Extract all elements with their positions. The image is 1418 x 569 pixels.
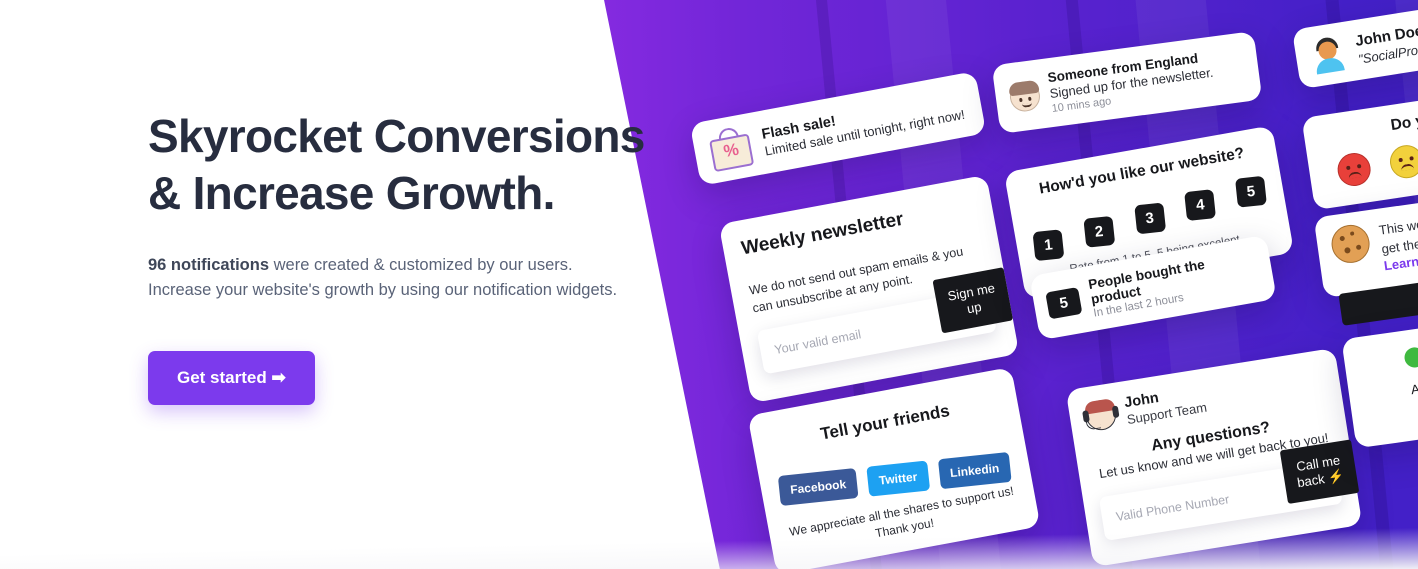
rating-option-1[interactable]: 1: [1032, 229, 1064, 261]
person-avatar: [1308, 34, 1349, 75]
shopping-bag-percent-icon: %: [705, 124, 756, 172]
facebook-share-button[interactable]: Facebook: [778, 468, 859, 506]
rating-option-3[interactable]: 3: [1134, 203, 1166, 235]
subtitle-line-2: Increase your website's growth by using …: [148, 281, 617, 299]
sign-me-up-button[interactable]: Sign me up: [932, 267, 1013, 333]
headline-rest-1: Conversions: [362, 110, 645, 162]
get-started-button[interactable]: Get started ➡: [148, 351, 315, 405]
cookie-accept-button[interactable]: [1338, 265, 1418, 326]
headline-period: .: [543, 167, 555, 219]
headset-agent-icon: [1084, 398, 1118, 432]
headline-highlight-skyrocket: Skyrocket: [148, 108, 362, 165]
linkedin-share-button[interactable]: Linkedin: [938, 452, 1012, 489]
cookie-icon: [1329, 222, 1372, 265]
section-divider: [0, 526, 1418, 569]
online-status-label: A: [1410, 381, 1418, 397]
sad-face-icon[interactable]: [1388, 143, 1418, 181]
hero-section: Skyrocket Conversions & Increase Growth.…: [0, 0, 1418, 569]
headline-highlight-growth: Growth: [386, 165, 543, 222]
angry-face-icon[interactable]: [1335, 151, 1373, 189]
green-status-dot: [1403, 346, 1418, 369]
rating-option-4[interactable]: 4: [1184, 189, 1216, 221]
notification-count: 96 notifications: [148, 256, 269, 274]
purchase-count-badge: 5: [1045, 287, 1082, 319]
rating-option-5[interactable]: 5: [1235, 176, 1267, 208]
rating-option-2[interactable]: 2: [1083, 216, 1115, 248]
page-title: Skyrocket Conversions & Increase Growth.: [148, 108, 708, 222]
hero-copy: Skyrocket Conversions & Increase Growth.…: [148, 108, 708, 303]
hero-subtitle: 96 notifications were created & customiz…: [148, 253, 708, 303]
twitter-share-button[interactable]: Twitter: [866, 461, 929, 497]
headline-rest-2: & Increase: [148, 167, 386, 219]
subtitle-line-1: were created & customized by our users.: [269, 256, 573, 274]
call-me-back-button[interactable]: Call me back ⚡: [1280, 439, 1360, 504]
person-face-avatar: [1008, 79, 1042, 113]
